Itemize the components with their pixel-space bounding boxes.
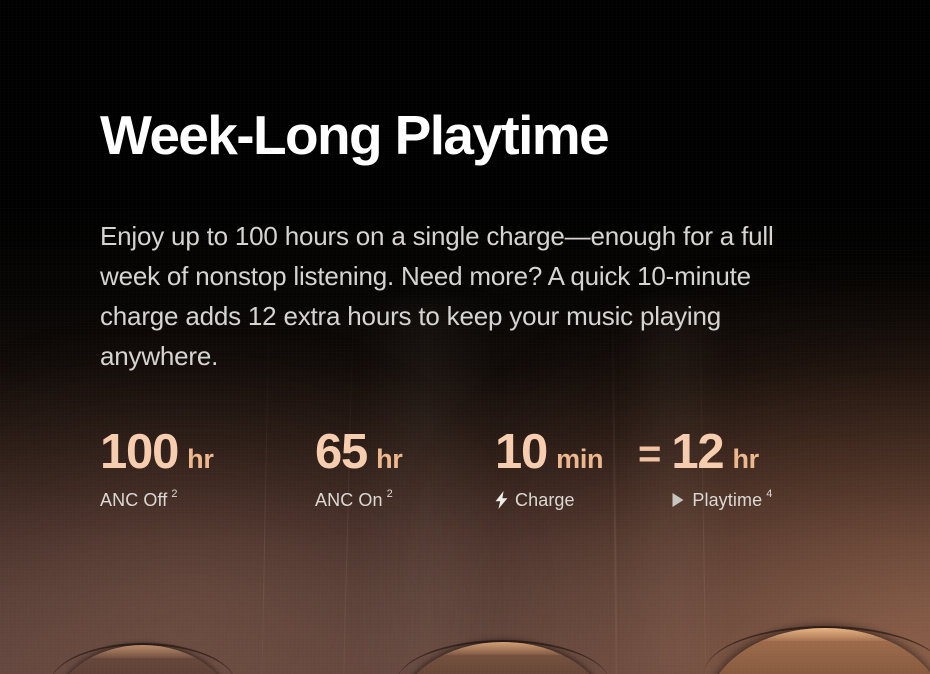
stat-number: 65 [315,428,367,477]
stat-anc-on: 65 hr ANC On 2 [315,428,495,509]
stat-number: 10 [495,428,547,477]
stat-label: Playtime [692,491,762,509]
equals-operator: = [638,434,661,474]
stat-footnote: 2 [171,489,177,500]
stat-playtime: 12 hr Playtime 4 [671,428,861,509]
stat-number: 12 [671,428,723,477]
stat-value: 12 hr [671,428,759,477]
stat-footnote: 2 [387,489,393,500]
promo-banner: Week-Long Playtime Enjoy up to 100 hours… [0,0,930,674]
stat-unit: min [556,446,603,473]
content-area: Week-Long Playtime Enjoy up to 100 hours… [0,0,930,674]
stat-charge: 10 min Charge [495,428,660,509]
stat-footnote: 4 [766,489,772,500]
stat-unit: hr [187,446,213,473]
stat-label-wrap: Playtime 4 [671,491,772,509]
stat-label-wrap: ANC Off 2 [100,491,178,509]
lightning-bolt-icon [495,491,508,509]
stats-row: 100 hr ANC Off 2 65 hr ANC On 2 [100,428,890,509]
stat-number: 100 [100,428,178,477]
body-paragraph: Enjoy up to 100 hours on a single charge… [100,216,830,376]
page-title: Week-Long Playtime [100,107,608,165]
play-triangle-icon [671,492,685,508]
stat-unit: hr [376,446,402,473]
stat-anc-off: 100 hr ANC Off 2 [100,428,315,509]
stat-label-wrap: ANC On 2 [315,491,393,509]
stat-label-wrap: Charge [495,491,579,509]
stat-unit: hr [732,446,758,473]
stat-label: ANC Off [100,491,167,509]
stat-value: 10 min [495,428,603,477]
stat-label: Charge [515,491,575,509]
stat-value: 65 hr [315,428,403,477]
stat-value: 100 hr [100,428,214,477]
stat-label: ANC On [315,491,383,509]
